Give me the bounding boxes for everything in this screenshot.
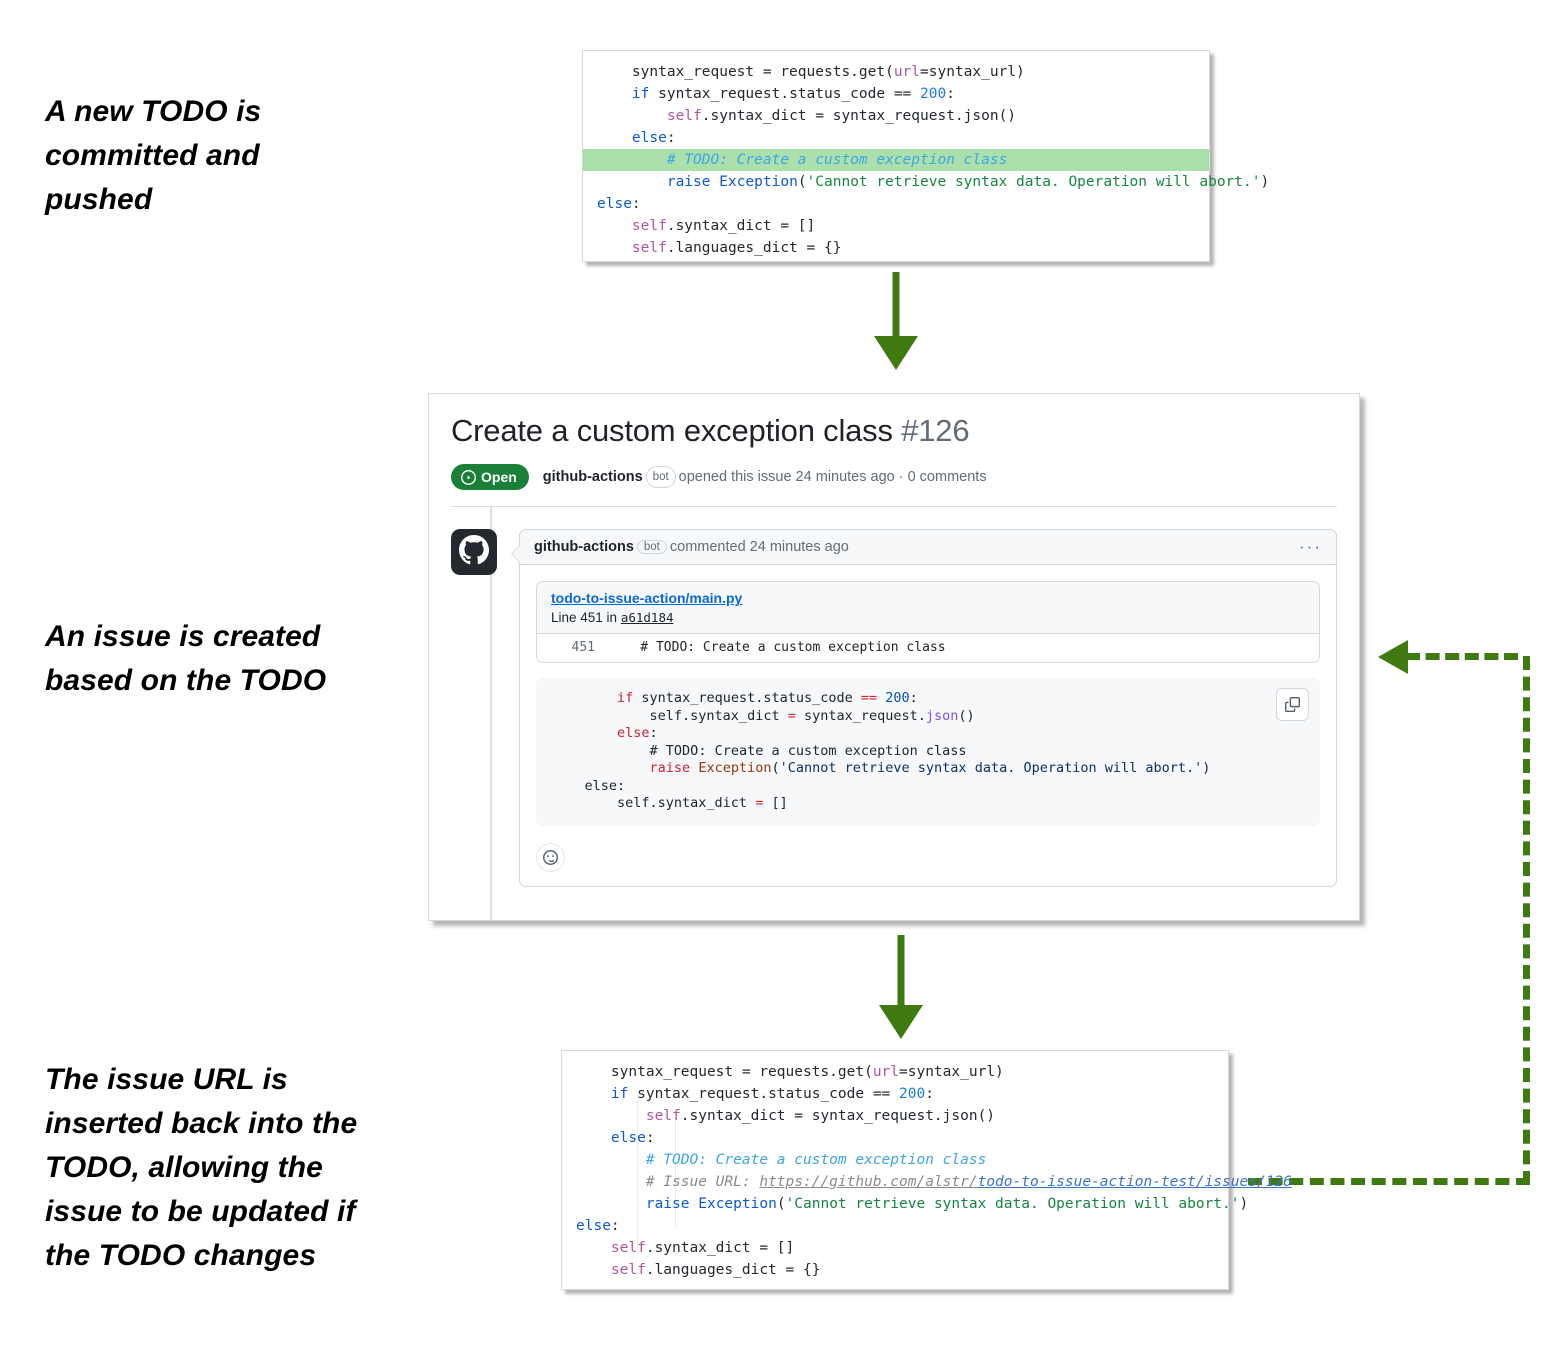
permalink-code-text: # TODO: Create a custom exception class bbox=[609, 640, 946, 655]
diagram-stage: A new TODO is committed and pushed An is… bbox=[0, 0, 1543, 1351]
code-line: # TODO: Create a custom exception class bbox=[562, 1149, 1228, 1171]
comment-action-text: commented 24 minutes ago bbox=[670, 539, 849, 555]
issue-url-link[interactable]: todo-to-issue-action-test/issues/126 bbox=[978, 1174, 1292, 1190]
code-block-after: syntax_request = requests.get(url=syntax… bbox=[561, 1050, 1229, 1290]
code-line: self.languages_dict = {} bbox=[583, 237, 1209, 259]
code-line: # TODO: Create a custom exception class bbox=[552, 743, 1304, 761]
issue-meta-text: github-actionsbotopened this issue 24 mi… bbox=[543, 466, 987, 488]
code-line: self.syntax_dict = syntax_request.json() bbox=[583, 105, 1209, 127]
comment-code-fence: if syntax_request.status_code == 200: se… bbox=[536, 677, 1320, 827]
code-line: else: bbox=[562, 1215, 1228, 1237]
line-number: 451 bbox=[537, 640, 609, 655]
caption-step-3: The issue URL is inserted back into the … bbox=[45, 1058, 405, 1278]
comment-box: github-actions bot commented 24 minutes … bbox=[519, 529, 1337, 887]
caption-step-1: A new TODO is committed and pushed bbox=[45, 90, 345, 222]
bot-tag: bot bbox=[646, 466, 676, 488]
code-line: else: bbox=[562, 1127, 1228, 1149]
flow-arrow-down-2 bbox=[866, 935, 936, 1040]
code-line: syntax_request = requests.get(url=syntax… bbox=[583, 61, 1209, 83]
feedback-segment-vertical bbox=[1523, 656, 1530, 1185]
comment-item: github-actions bot commented 24 minutes … bbox=[451, 529, 1337, 887]
code-line: self.languages_dict = {} bbox=[562, 1259, 1228, 1281]
code-line: else: bbox=[583, 127, 1209, 149]
caption-step-2: An issue is created based on the TODO bbox=[45, 615, 385, 703]
feedback-arrow-head-icon bbox=[1378, 640, 1408, 674]
issue-url-prefix: https://github.com/alstr/ bbox=[759, 1174, 977, 1190]
github-issue-card: Create a custom exception class #126 Ope… bbox=[428, 393, 1360, 921]
issue-title-text: Create a custom exception class bbox=[451, 413, 893, 448]
permalink-line-info: Line 451 in a61d184 bbox=[551, 610, 1307, 625]
code-line: self.syntax_dict = syntax_request.json() bbox=[552, 708, 1304, 726]
comment-body: todo-to-issue-action/main.py Line 451 in… bbox=[520, 565, 1336, 837]
kebab-menu-icon[interactable]: ··· bbox=[1299, 542, 1322, 552]
issue-header: Create a custom exception class #126 Ope… bbox=[429, 394, 1359, 507]
code-line: if syntax_request.status_code == 200: bbox=[583, 83, 1209, 105]
issue-author[interactable]: github-actions bbox=[543, 469, 643, 485]
permalink-file-link[interactable]: todo-to-issue-action/main.py bbox=[551, 590, 742, 606]
reaction-row bbox=[520, 837, 1336, 886]
code-line: else: bbox=[583, 193, 1209, 215]
permalink-code-row: 451 # TODO: Create a custom exception cl… bbox=[537, 634, 1319, 662]
code-line-todo-highlight: # TODO: Create a custom exception class bbox=[583, 149, 1209, 171]
feedback-loop-arrow bbox=[1378, 640, 1530, 1185]
add-reaction-icon[interactable] bbox=[536, 843, 565, 872]
issue-meta-action: opened this issue 24 minutes ago · 0 com… bbox=[679, 469, 987, 485]
code-block-before: syntax_request = requests.get(url=syntax… bbox=[582, 50, 1210, 262]
code-line: else: bbox=[552, 778, 1304, 796]
status-badge-label: Open bbox=[481, 469, 517, 485]
flow-arrow-down-1 bbox=[861, 272, 931, 370]
code-line: self.syntax_dict = [] bbox=[583, 215, 1209, 237]
bot-tag: bot bbox=[637, 540, 667, 554]
code-line: self.syntax_dict = syntax_request.json() bbox=[562, 1105, 1228, 1127]
issue-meta: Open github-actionsbotopened this issue … bbox=[451, 464, 1337, 490]
code-line: self.syntax_dict = [] bbox=[562, 1237, 1228, 1259]
feedback-segment-top bbox=[1406, 653, 1518, 660]
issue-timeline: github-actions bot commented 24 minutes … bbox=[429, 507, 1359, 887]
avatar[interactable] bbox=[451, 529, 497, 575]
permalink-header: todo-to-issue-action/main.py Line 451 in… bbox=[537, 582, 1319, 634]
code-line: raise Exception('Cannot retrieve syntax … bbox=[562, 1193, 1228, 1215]
issue-number: #126 bbox=[901, 413, 969, 448]
code-line: raise Exception('Cannot retrieve syntax … bbox=[583, 171, 1209, 193]
code-line: raise Exception('Cannot retrieve syntax … bbox=[552, 760, 1304, 778]
permalink-line-prefix: Line 451 in bbox=[551, 610, 621, 625]
code-line: syntax_request = requests.get(url=syntax… bbox=[562, 1061, 1228, 1083]
comment-header: github-actions bot commented 24 minutes … bbox=[520, 530, 1336, 565]
issue-open-icon bbox=[461, 470, 476, 485]
github-logo-icon bbox=[459, 535, 489, 570]
code-line: self.syntax_dict = [] bbox=[552, 795, 1304, 813]
code-line: if syntax_request.status_code == 200: bbox=[562, 1083, 1228, 1105]
code-line: if syntax_request.status_code == 200: bbox=[552, 690, 1304, 708]
permalink-commit-sha[interactable]: a61d184 bbox=[621, 610, 674, 625]
page-title: Create a custom exception class #126 bbox=[451, 412, 1337, 450]
comment-author[interactable]: github-actions bbox=[534, 539, 634, 555]
code-line-issue-url: # Issue URL: https://github.com/alstr/to… bbox=[562, 1171, 1228, 1193]
code-line: else: bbox=[552, 725, 1304, 743]
status-badge[interactable]: Open bbox=[451, 464, 529, 490]
code-permalink-snippet: todo-to-issue-action/main.py Line 451 in… bbox=[536, 581, 1320, 663]
